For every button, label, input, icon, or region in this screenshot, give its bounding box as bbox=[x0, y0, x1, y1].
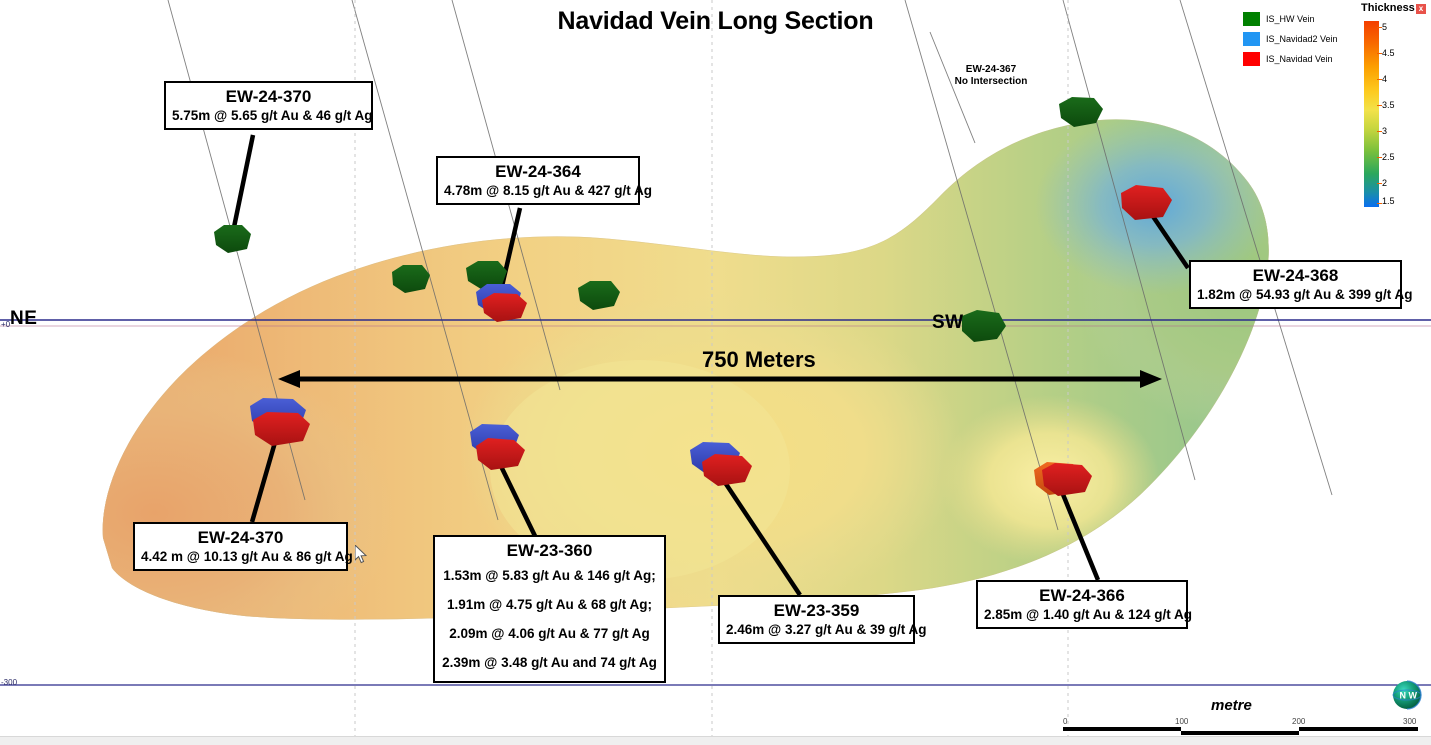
legend-item-navidad-vein[interactable]: IS_Navidad Vein bbox=[1243, 50, 1338, 67]
callout-ew-24-368[interactable]: EW-24-368 1.82m @ 54.93 g/t Au & 399 g/t… bbox=[1189, 260, 1402, 309]
scale-bar-unit: metre bbox=[1211, 697, 1252, 714]
callout-hole-id: EW-24-370 bbox=[141, 527, 340, 548]
callout-ew-24-366[interactable]: EW-24-366 2.85m @ 1.40 g/t Au & 124 g/t … bbox=[976, 580, 1188, 629]
bottom-status-strip bbox=[0, 736, 1431, 745]
long-section-viewport: Navidad Vein Long Section NE SW +0 -300 … bbox=[0, 0, 1431, 745]
colorbar-tick: 4 bbox=[1382, 75, 1387, 84]
axis-tick-top-left: +0 bbox=[1, 320, 10, 329]
scale-tick: 200 bbox=[1292, 717, 1305, 726]
callout-assay-line: 4.78m @ 8.15 g/t Au & 427 g/t Ag bbox=[444, 182, 632, 199]
legend-item-hw-vein[interactable]: IS_HW Vein bbox=[1243, 10, 1338, 27]
legend-swatch-icon bbox=[1243, 32, 1260, 46]
callout-hole-id: EW-24-366 bbox=[984, 585, 1180, 606]
callout-hole-id: EW-23-359 bbox=[726, 600, 907, 621]
annotation-hole-id: EW-24-367 bbox=[930, 64, 1052, 76]
legend-item-navidad2-vein[interactable]: IS_Navidad2 Vein bbox=[1243, 30, 1338, 47]
legend-swatch-icon bbox=[1243, 52, 1260, 66]
mouse-cursor bbox=[355, 545, 367, 564]
axis-tick-bottom-left: -300 bbox=[1, 678, 17, 687]
colorbar-tick: 3.5 bbox=[1382, 101, 1395, 110]
legend-label: IS_Navidad Vein bbox=[1266, 54, 1333, 64]
callout-assay-line: 5.75m @ 5.65 g/t Au & 46 g/t Ag bbox=[172, 107, 365, 124]
no-intersection-annotation: EW-24-367 No Intersection bbox=[930, 64, 1052, 88]
annotation-note: No Intersection bbox=[930, 76, 1052, 88]
callout-assay-line: 2.46m @ 3.27 g/t Au & 39 g/t Ag bbox=[726, 621, 907, 638]
scale-tick: 300 bbox=[1403, 717, 1416, 726]
thickness-gradient bbox=[1364, 21, 1379, 207]
callout-hole-id: EW-23-360 bbox=[441, 540, 658, 561]
colorbar-tick: 1.5 bbox=[1382, 197, 1395, 206]
callout-assay-line: 1.53m @ 5.83 g/t Au & 146 g/t Ag; bbox=[441, 561, 658, 590]
direction-label-sw: SW bbox=[932, 312, 964, 334]
dimension-label: 750 Meters bbox=[702, 347, 816, 373]
callout-ew-23-360[interactable]: EW-23-360 1.53m @ 5.83 g/t Au & 146 g/t … bbox=[433, 535, 666, 683]
callout-assay-line: 1.91m @ 4.75 g/t Au & 68 g/t Ag; bbox=[441, 590, 658, 619]
thickness-colorbar[interactable]: 5 4.5 4 3.5 3 2.5 2 1.5 bbox=[1364, 21, 1424, 207]
scale-segment bbox=[1063, 727, 1181, 731]
compass-west-label: W bbox=[1409, 691, 1418, 701]
callout-ew-24-370-upper[interactable]: EW-24-370 5.75m @ 5.65 g/t Au & 46 g/t A… bbox=[164, 81, 373, 130]
legend-label: IS_Navidad2 Vein bbox=[1266, 34, 1338, 44]
legend-swatch-icon bbox=[1243, 12, 1260, 26]
colorbar-tick: 4.5 bbox=[1382, 49, 1395, 58]
callout-assay-line: 2.09m @ 4.06 g/t Au & 77 g/t Ag bbox=[441, 619, 658, 648]
page-title: Navidad Vein Long Section bbox=[0, 7, 1431, 36]
disc-hw-370 bbox=[214, 225, 251, 253]
callout-ew-24-364[interactable]: EW-24-364 4.78m @ 8.15 g/t Au & 427 g/t … bbox=[436, 156, 640, 205]
callout-assay-line: 1.82m @ 54.93 g/t Au & 399 g/t Ag bbox=[1197, 286, 1394, 303]
compass-globe-icon[interactable]: N W bbox=[1392, 680, 1422, 710]
callout-hole-id: EW-24-368 bbox=[1197, 265, 1394, 286]
thickness-colorbar-panel: Thickness x 5 4.5 4 3.5 3 2.5 2 1.5 bbox=[1360, 2, 1428, 14]
colorbar-tick: 2.5 bbox=[1382, 153, 1395, 162]
callout-ew-23-359[interactable]: EW-23-359 2.46m @ 3.27 g/t Au & 39 g/t A… bbox=[718, 595, 915, 644]
scale-tick: 100 bbox=[1175, 717, 1188, 726]
scale-tick: 0 bbox=[1063, 717, 1067, 726]
close-icon[interactable]: x bbox=[1416, 4, 1426, 14]
callout-hole-id: EW-24-370 bbox=[172, 86, 365, 107]
direction-label-ne: NE bbox=[10, 308, 37, 330]
compass-north-label: N bbox=[1400, 691, 1407, 701]
callout-ew-24-370-lower[interactable]: EW-24-370 4.42 m @ 10.13 g/t Au & 86 g/t… bbox=[133, 522, 348, 571]
callout-assay-line: 2.39m @ 3.48 g/t Au and 74 g/t Ag bbox=[441, 648, 658, 677]
legend-label: IS_HW Vein bbox=[1266, 14, 1315, 24]
colorbar-tick: 3 bbox=[1382, 127, 1387, 136]
callout-assay-line: 2.85m @ 1.40 g/t Au & 124 g/t Ag bbox=[984, 606, 1180, 623]
colorbar-tick: 2 bbox=[1382, 179, 1387, 188]
colorbar-tick: 5 bbox=[1382, 23, 1387, 32]
callout-hole-id: EW-24-364 bbox=[444, 161, 632, 182]
vein-type-legend: IS_HW Vein IS_Navidad2 Vein IS_Navidad V… bbox=[1243, 10, 1338, 70]
scale-segment bbox=[1299, 727, 1418, 731]
callout-assay-line: 4.42 m @ 10.13 g/t Au & 86 g/t Ag bbox=[141, 548, 340, 565]
scale-segment bbox=[1181, 731, 1299, 735]
